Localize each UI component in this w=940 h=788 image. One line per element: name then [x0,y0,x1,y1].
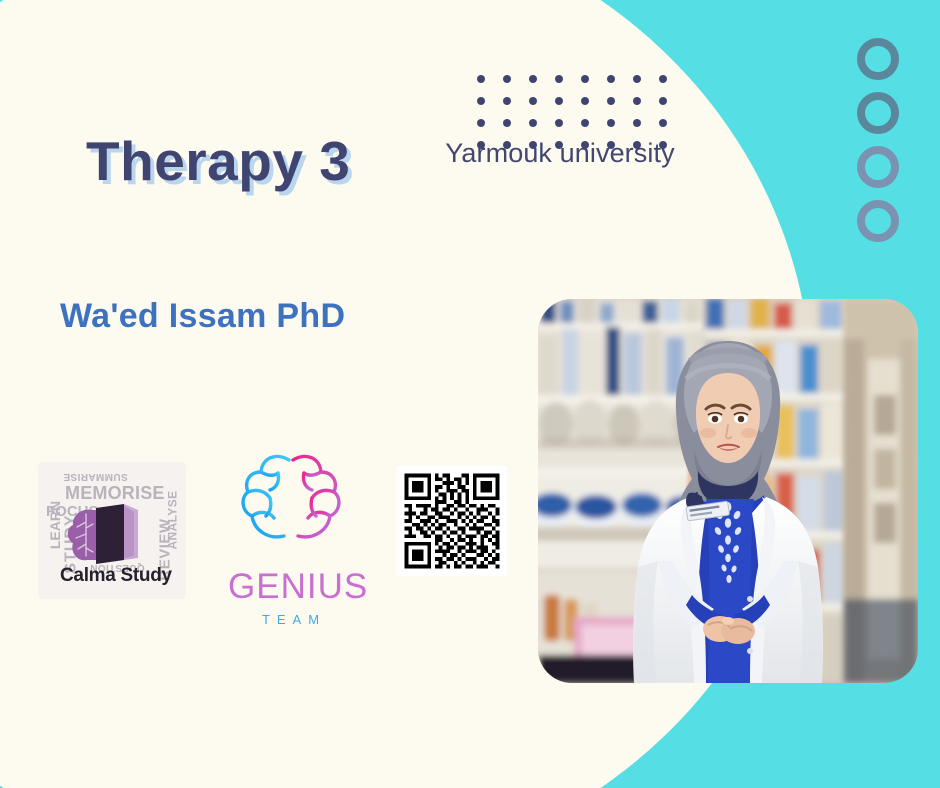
grid-dot [581,75,589,83]
wordcloud-analyse: ANALYSE [167,490,179,549]
qr-code-image [397,466,507,576]
ring-circle-4 [857,200,899,242]
calma-study-logo: SUMMARISE MEMORISE FOCUS LEARN STUDY QUE… [38,462,186,599]
grid-dot [607,119,615,127]
university-label: Yarmouk university [440,138,680,169]
speaker-photo [538,299,918,683]
grid-dot [607,75,615,83]
ring-circle-2 [857,92,899,134]
page-title: Therapy 3 [86,129,350,193]
grid-dot [607,97,615,105]
grid-dot [529,119,537,127]
grid-dot [503,75,511,83]
genius-team-logo: GENIUS TEAM [228,448,354,626]
grid-dot [659,119,667,127]
wordcloud-learn: LEARN [48,501,62,549]
grid-dot [659,97,667,105]
grid-dot [529,75,537,83]
grid-dot [555,75,563,83]
decorative-rings [857,38,903,254]
grid-dot [633,75,641,83]
grid-dot [555,97,563,105]
calma-study-brand: Calma Study [60,565,172,587]
grid-dot [477,75,485,83]
grid-dot [659,75,667,83]
grid-dot [503,119,511,127]
presentation-slide: Yarmouk university Therapy 3 Wa'ed Issam… [0,0,940,788]
genius-team-subtitle: TEAM [228,613,354,626]
grid-dot [477,119,485,127]
wordcloud-memorise: MEMORISE [65,484,165,502]
author-name: Wa'ed Issam PhD [60,297,345,336]
grid-dot [477,97,485,105]
grid-dot [633,97,641,105]
ring-circle-3 [857,146,899,188]
genius-wordmark: GENIUS [228,569,354,604]
qr-code[interactable] [397,466,507,576]
ring-circle-1 [857,38,899,80]
brain-icon [228,448,354,558]
grid-dot [581,119,589,127]
calma-brain-book-icon [62,502,162,572]
wordcloud-summarise: SUMMARISE [63,471,128,481]
pharmacist-photo-illustration [538,299,918,683]
grid-dot [555,119,563,127]
grid-dot [581,97,589,105]
grid-dot [503,97,511,105]
grid-dot [529,97,537,105]
grid-dot [633,119,641,127]
